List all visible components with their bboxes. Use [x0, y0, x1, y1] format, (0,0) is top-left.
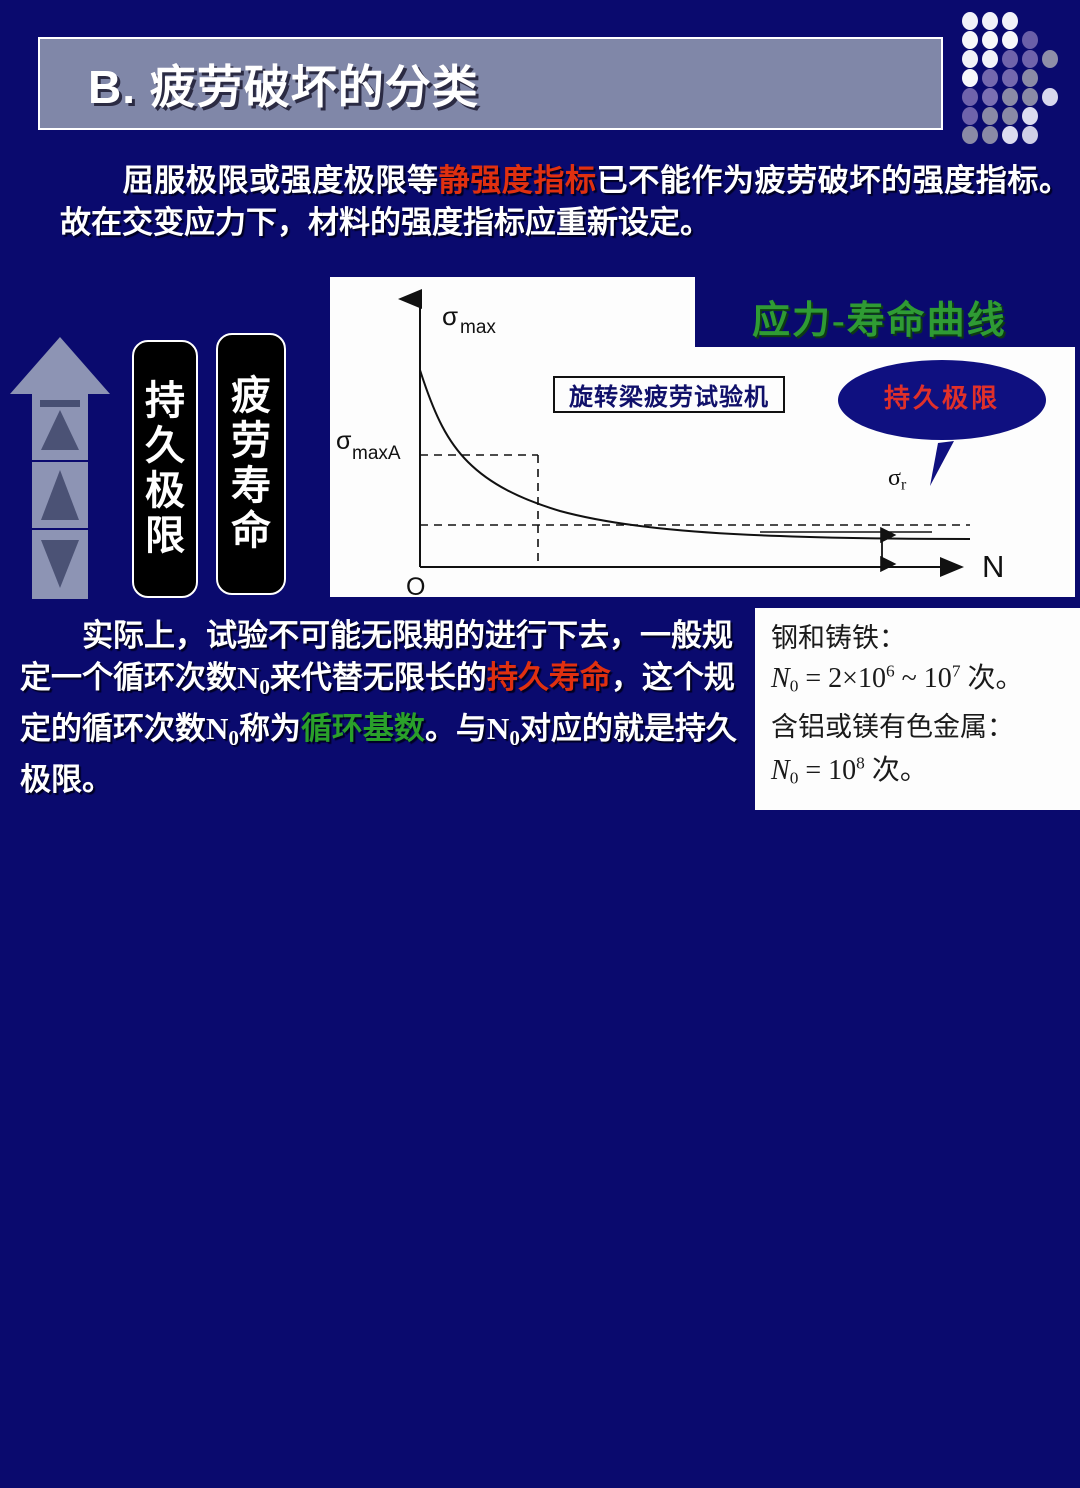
pb-sub3: 0 — [509, 726, 520, 750]
sigma-symbol: σ — [888, 465, 901, 491]
svg-text:N: N — [982, 549, 1004, 584]
decor-dot — [1002, 69, 1018, 87]
formula-tail: 次。 — [865, 755, 928, 786]
plate-char: 寿 — [231, 464, 271, 509]
decor-dot — [982, 126, 998, 144]
bar-icon — [40, 400, 80, 407]
slide-title-bar: B. 疲劳破坏的分类 — [38, 37, 943, 130]
machine-label-box: 旋转梁疲劳试验机 — [553, 376, 785, 413]
decor-dot — [982, 107, 998, 125]
formula-N: N — [771, 755, 790, 786]
curve-title: 应力-寿命曲线 — [752, 289, 1007, 344]
triangle-up-icon — [41, 470, 79, 520]
decor-dot — [962, 31, 978, 49]
decor-dot — [1022, 50, 1038, 68]
formula-panel: 钢和铸铁： N0 = 2×106 ~ 107 次。 含铝或镁有色金属： N0 =… — [755, 608, 1080, 810]
machine-label-text: 旋转梁疲劳试验机 — [569, 377, 769, 412]
formula-alloy: N0 = 108 次。 — [771, 748, 928, 789]
decor-dot — [1002, 50, 1018, 68]
decor-dot — [1002, 12, 1018, 30]
formula-exp: 8 — [856, 753, 865, 772]
decor-dot — [962, 126, 978, 144]
formula-steel: N0 = 2×106 ~ 107 次。 — [771, 656, 1024, 697]
decor-dot — [1022, 88, 1038, 106]
decor-dot — [1002, 88, 1018, 106]
svg-text:σ: σ — [442, 301, 458, 331]
formula-mid: ~ 10 — [895, 663, 952, 694]
decor-dot — [1022, 126, 1038, 144]
plate-char: 持 — [145, 379, 185, 424]
plate-endurance-limit: 持 久 极 限 — [132, 340, 198, 598]
svg-text:maxA: maxA — [352, 443, 401, 464]
pb-sub2: 0 — [228, 726, 239, 750]
arrow-cell-1 — [32, 394, 88, 462]
formula-exp: 6 — [886, 661, 895, 680]
pb-seg2: 来代替无限长的 — [270, 660, 487, 695]
sigma-subscript: r — [901, 476, 906, 493]
pb-seg4: 称为 — [239, 711, 301, 746]
plate-char: 疲 — [231, 374, 271, 419]
formula-exp: 7 — [952, 661, 961, 680]
formula-heading-steel: 钢和铸铁： — [771, 616, 906, 655]
decor-dot — [962, 88, 978, 106]
decor-dot — [1022, 107, 1038, 125]
paragraph-bottom: 实际上，试验不可能无限期的进行下去，一般规定一个循环次数N0来代替无限长的持久寿… — [20, 615, 760, 801]
decor-dot — [962, 107, 978, 125]
formula-tail: 次。 — [961, 663, 1024, 694]
decor-dot — [1002, 107, 1018, 125]
triangle-up-icon — [41, 410, 79, 450]
arrow-head-triangle-icon — [10, 337, 110, 394]
svg-text:max: max — [460, 317, 496, 338]
formula-heading-alloy: 含铝或镁有色金属： — [771, 705, 1014, 744]
up-arrow-stack — [10, 337, 110, 599]
plate-char: 劳 — [231, 419, 271, 464]
formula-body: = 10 — [798, 755, 856, 786]
decor-dot — [1002, 126, 1018, 144]
decor-dot — [982, 12, 998, 30]
decor-dot — [982, 50, 998, 68]
arrow-cell-3 — [32, 530, 88, 599]
decor-dot — [962, 12, 978, 30]
callout-label: 持久极限 — [838, 378, 1046, 415]
formula-body: = 2×10 — [798, 663, 886, 694]
decor-dot — [1022, 69, 1038, 87]
pb-sub1: 0 — [259, 675, 270, 699]
arrow-cell-2 — [32, 462, 88, 530]
page-title: B. 疲劳破坏的分类 — [88, 51, 479, 117]
svg-text:O: O — [406, 573, 425, 597]
decor-dot — [962, 69, 978, 87]
decor-dot — [1022, 31, 1038, 49]
paragraph-top: 屈服极限或强度极限等静强度指标已不能作为疲劳破坏的强度指标。故在交变应力下，材料… — [60, 160, 1070, 244]
plate-char: 限 — [145, 514, 185, 559]
plate-char: 极 — [145, 469, 185, 514]
paragraph-top-seg1: 屈服极限或强度极限等 — [122, 163, 439, 198]
pb-highlight2: 循环基数 — [301, 711, 425, 746]
paragraph-top-highlight: 静强度指标 — [439, 163, 597, 198]
decor-dot — [982, 69, 998, 87]
pb-highlight1: 持久寿命 — [487, 660, 611, 695]
endurance-limit-callout: 持久极限 — [838, 358, 1046, 488]
formula-N: N — [771, 663, 790, 694]
decor-dot — [1042, 88, 1058, 106]
decor-dot — [982, 88, 998, 106]
dot-grid-decoration — [962, 12, 1072, 152]
plate-char: 久 — [145, 424, 185, 469]
plate-fatigue-life: 疲 劳 寿 命 — [216, 333, 286, 595]
slide-canvas: B. 疲劳破坏的分类 屈服极限或强度极限等静强度指标已不能作为疲劳破坏的强度指标… — [0, 0, 1080, 810]
triangle-down-icon — [41, 540, 79, 588]
decor-dot — [1042, 50, 1058, 68]
pb-seg5: 。与N — [425, 711, 509, 746]
decor-dot — [1002, 31, 1018, 49]
svg-text:σ: σ — [336, 427, 352, 455]
sigma-r-label: σr — [888, 465, 906, 494]
decor-dot — [962, 50, 978, 68]
decor-dot — [982, 31, 998, 49]
plate-char: 命 — [231, 509, 271, 554]
